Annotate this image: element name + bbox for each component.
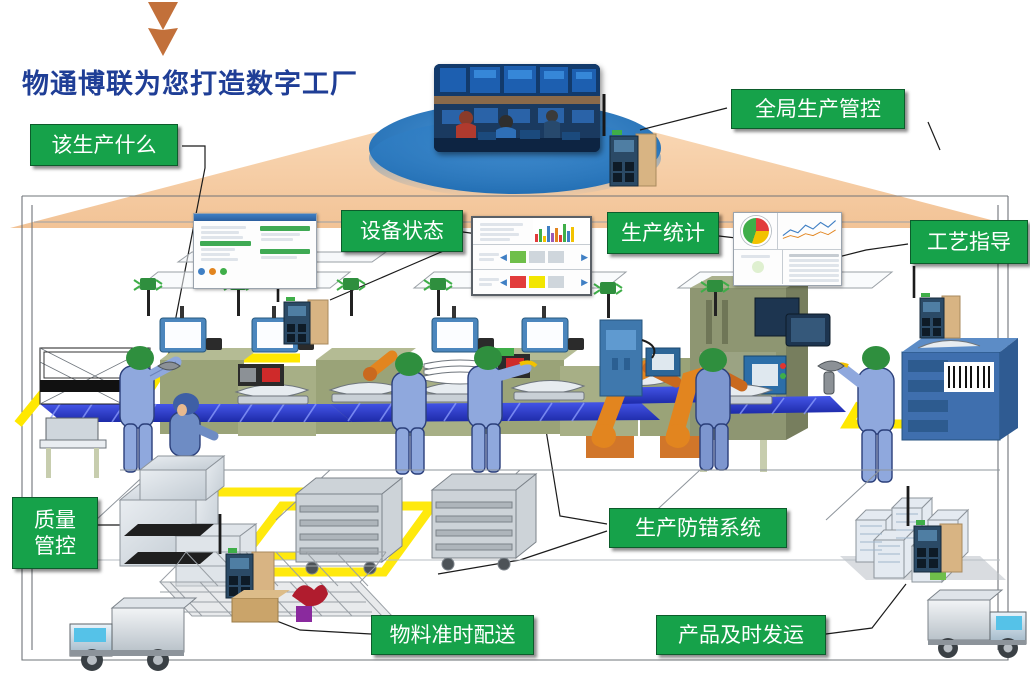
label-production-stats[interactable]: 生产统计 <box>607 212 719 254</box>
equipment-status-panel[interactable]: ◀ ▶ ◀ ▶ <box>471 216 592 296</box>
label-quality-control[interactable]: 质量 管控 <box>12 497 98 569</box>
status-dot-green <box>220 268 227 275</box>
data-table-widget <box>783 250 841 284</box>
mini-bar-chart <box>533 218 591 244</box>
delivery-truck-outbound <box>928 590 1026 658</box>
gateway-device-hero <box>604 94 656 186</box>
gauge-widget <box>734 213 778 249</box>
mes-order-panel[interactable] <box>193 213 317 289</box>
label-global-control[interactable]: 全局生产管控 <box>731 89 905 129</box>
label-what-to-produce[interactable]: 该生产什么 <box>30 124 178 166</box>
next-arrow-icon[interactable]: ▶ <box>581 252 588 263</box>
panel-titlebar <box>194 214 316 221</box>
label-error-proofing[interactable]: 生产防错系统 <box>609 508 787 548</box>
machine-icon-alarm <box>510 276 526 288</box>
label-material-delivery[interactable]: 物料准时配送 <box>371 615 534 655</box>
label-process-guidance[interactable]: 工艺指导 <box>910 220 1028 264</box>
production-stats-panel[interactable] <box>733 212 842 286</box>
status-dot-blue <box>198 268 205 275</box>
machine-icon-3 <box>548 251 564 263</box>
prev-arrow-icon-2[interactable]: ◀ <box>500 277 507 288</box>
machine-icon-warn <box>529 276 545 288</box>
label-product-shipping[interactable]: 产品及时发运 <box>656 615 826 655</box>
machine-icon-idle <box>548 276 564 288</box>
status-dot-orange <box>209 268 216 275</box>
next-arrow-icon-2[interactable]: ▶ <box>581 277 588 288</box>
gateway-device-right <box>914 266 960 338</box>
diagram-widget <box>734 250 783 284</box>
digital-factory-diagram: ◀ ▶ ◀ ▶ <box>0 0 1030 700</box>
control-room-photo <box>434 64 600 152</box>
label-equipment-status[interactable]: 设备状态 <box>341 210 463 252</box>
machine-icon-1 <box>510 251 526 263</box>
down-arrow-icon <box>148 2 178 56</box>
prev-arrow-icon[interactable]: ◀ <box>500 252 507 263</box>
line-chart-widget <box>778 213 841 249</box>
machine-icon-2 <box>529 251 545 263</box>
page-title: 物通博联为您打造数字工厂 <box>22 62 358 101</box>
barcode-rack <box>902 338 1018 440</box>
